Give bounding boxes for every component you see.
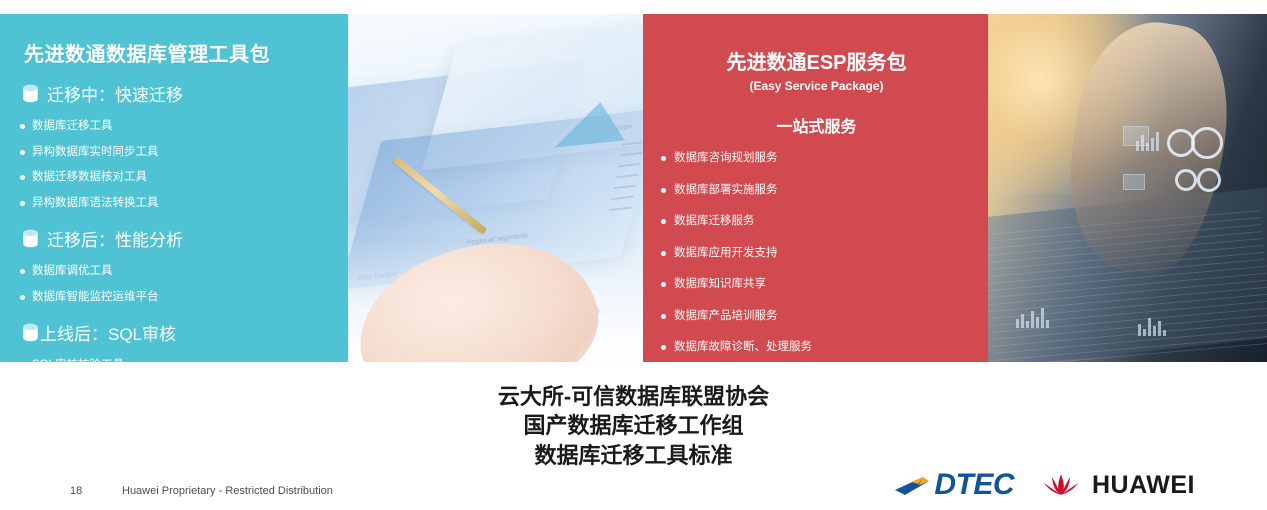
list-item: 数据库智能监控运维平台	[20, 285, 180, 311]
list-item: 数据库应用开发支持	[661, 238, 825, 270]
footer-left: 18 Huawei Proprietary - Restricted Distr…	[70, 485, 333, 497]
photo-bar-chart	[1136, 132, 1159, 151]
photo-bar-chart	[1138, 318, 1166, 336]
headline-line-1: 云大所-可信数据库联盟协会	[0, 382, 1267, 411]
list-item-label: SQL审核核验工具	[32, 360, 124, 362]
bullet-dot-icon	[20, 269, 25, 274]
left-toolkit-panel: 先进数通数据库管理工具包 迁移中：快速迁移 数据库迁移工具 异构数据库实时同步工…	[0, 14, 348, 362]
list-item: SQL审核核验工具	[20, 353, 180, 362]
list-item: 数据库故障诊断、处理服务	[661, 332, 976, 362]
photo-hud-ring	[1191, 127, 1223, 159]
list-item-label: 异构数据库语法转换工具	[32, 198, 159, 210]
photo-bar-chart	[1016, 308, 1049, 328]
bullet-dot-icon	[20, 175, 25, 180]
bullet-dot-icon	[661, 314, 666, 319]
bullet-list-sql-audit: SQL审核核验工具	[20, 353, 338, 362]
list-item-label: 数据迁移数据核对工具	[32, 172, 147, 184]
list-item-label: 数据库产品培训服务	[674, 311, 778, 323]
list-item-label: 数据库咨询规划服务	[674, 153, 778, 165]
list-item: 数据库咨询规划服务	[661, 143, 825, 175]
bullet-list-migration: 数据库迁移工具 异构数据库实时同步工具 数据迁移数据核对工具 异构数据库语法转换…	[20, 114, 338, 216]
list-item: 数据迁移数据核对工具	[20, 165, 180, 191]
photo-hud-ring	[1197, 168, 1221, 192]
right-panel-section-heading: 一站式服务	[657, 113, 976, 137]
list-item-label: 异构数据库实时同步工具	[32, 147, 159, 159]
photo-chart-shape	[554, 99, 635, 148]
database-icon	[22, 323, 39, 343]
slide-canvas: 先进数通数据库管理工具包 迁移中：快速迁移 数据库迁移工具 异构数据库实时同步工…	[0, 0, 1267, 510]
footer-logos: DTEC HUAWEI	[893, 468, 1195, 502]
list-item-label: 数据库调优工具	[32, 266, 113, 278]
headline-line-3: 数据库迁移工具标准	[0, 441, 1267, 470]
photo-hud-panel	[1123, 174, 1145, 190]
bullet-dot-icon	[20, 201, 25, 206]
list-item-label: 数据库应用开发支持	[674, 248, 778, 260]
dtec-swoosh-icon	[893, 471, 933, 499]
banner-strip: 先进数通数据库管理工具包 迁移中：快速迁移 数据库迁移工具 异构数据库实时同步工…	[0, 14, 1267, 362]
section-heading-text: 迁移后：性能分析	[47, 226, 183, 251]
bullet-dot-icon	[20, 124, 25, 129]
list-item: 异构数据库语法转换工具	[20, 191, 180, 217]
bullet-dot-icon	[20, 150, 25, 155]
huawei-logo: HUAWEI	[1040, 470, 1195, 500]
headline-line-2: 国产数据库迁移工作组	[0, 411, 1267, 440]
left-panel-title: 先进数通数据库管理工具包	[24, 38, 338, 67]
bullet-dot-icon	[661, 251, 666, 256]
headline-block: 云大所-可信数据库联盟协会 国产数据库迁移工作组 数据库迁移工具标准	[0, 382, 1267, 470]
list-item: 数据库迁移工具	[20, 114, 180, 140]
list-item: 数据库产品培训服务	[661, 301, 825, 333]
bullet-dot-icon	[20, 295, 25, 300]
database-icon	[22, 229, 39, 249]
right-panel-subtitle: (Easy Service Package)	[657, 79, 976, 93]
bullet-dot-icon	[661, 188, 666, 193]
list-item: 数据库部署实施服务	[661, 175, 825, 207]
dtec-wordmark: DTEC	[934, 468, 1014, 502]
list-item-label: 数据库部署实施服务	[674, 185, 778, 197]
huawei-wordmark: HUAWEI	[1092, 471, 1195, 500]
huawei-flower-icon	[1040, 470, 1082, 500]
bullet-dot-icon	[661, 156, 666, 161]
list-item-label: 数据库迁移服务	[674, 216, 755, 228]
database-icon	[22, 84, 39, 104]
right-service-panel: 先进数通ESP服务包 (Easy Service Package) 一站式服务 …	[643, 14, 988, 362]
bullet-dot-icon	[661, 345, 666, 350]
list-item: 数据库知识库共享	[661, 269, 825, 301]
section-heading-migration: 迁移中：快速迁移	[22, 81, 338, 106]
section-heading-text: 上线后：SQL审核	[40, 320, 176, 345]
bullet-dot-icon	[661, 219, 666, 224]
bullet-dot-icon	[661, 282, 666, 287]
section-heading-sql-audit: 上线后：SQL审核	[22, 320, 338, 345]
list-item-label: 数据库迁移工具	[32, 121, 113, 133]
list-item: 数据库调优工具	[20, 259, 180, 285]
list-item-label: 数据库知识库共享	[674, 279, 766, 291]
section-heading-performance: 迁移后：性能分析	[22, 226, 338, 251]
bullet-list-services: 数据库咨询规划服务 数据库部署实施服务 数据库迁移服务 数据库应用开发支持 数据…	[657, 143, 976, 362]
right-photo	[988, 14, 1267, 362]
bullet-list-performance: 数据库调优工具 数据库智能监控运维平台	[20, 259, 338, 310]
right-panel-title: 先进数通ESP服务包	[657, 46, 976, 75]
list-item: 数据库迁移服务	[661, 206, 825, 238]
center-photo: Regional segments Central Europe East Eu…	[348, 14, 643, 362]
list-item-label: 数据库智能监控运维平台	[32, 292, 159, 304]
photo-hud-ring	[1175, 169, 1197, 191]
confidentiality-notice: Huawei Proprietary - Restricted Distribu…	[122, 485, 333, 497]
list-item-label: 数据库故障诊断、处理服务	[674, 342, 812, 354]
page-number: 18	[70, 485, 122, 497]
list-item: 异构数据库实时同步工具	[20, 140, 180, 166]
dtec-logo: DTEC	[893, 468, 1014, 502]
section-heading-text: 迁移中：快速迁移	[47, 81, 183, 106]
